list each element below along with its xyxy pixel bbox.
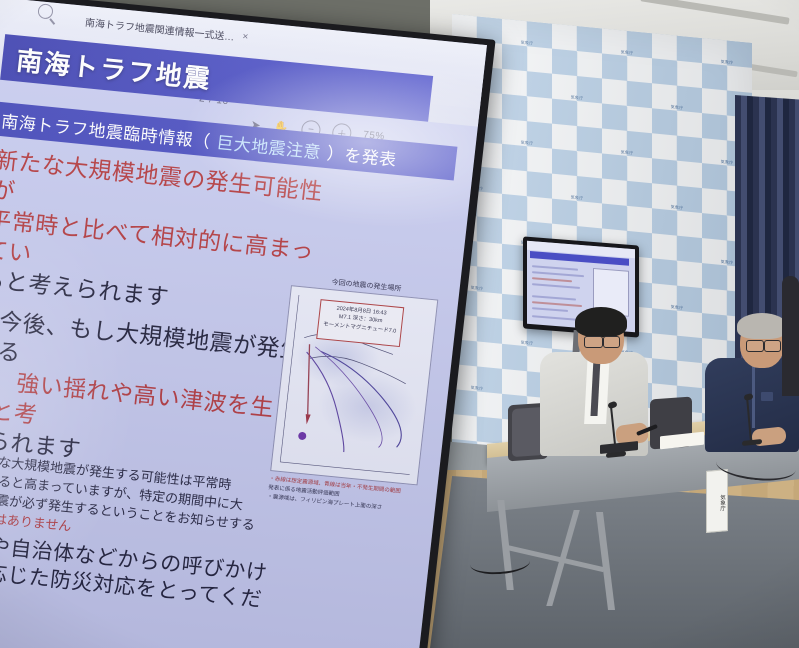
official-left-glasses — [584, 336, 603, 348]
background-person — [782, 276, 799, 396]
official-right-pocket — [761, 392, 773, 401]
figure-info-box: 2024年8月8日 16:43 M7.1 深さ：30km モーメントマグニチュー… — [316, 299, 404, 347]
jma-logo-icon: 気象庁 — [564, 195, 590, 212]
jma-logo-icon: 気象庁 — [514, 140, 540, 157]
official-right-glasses — [764, 340, 781, 352]
jma-logo-icon: 気象庁 — [614, 50, 640, 67]
earthquake-map-figure: 今回の地震の発生場所 — [266, 273, 441, 521]
official-left-hair — [575, 307, 627, 337]
screen-surface: 南海トラフ地震関連情報一式送… × ↑ ↓ 2 / 16 ➤ — [0, 0, 487, 648]
projection-screen: 南海トラフ地震関連情報一式送… × ↑ ↓ 2 / 16 ➤ — [0, 0, 496, 648]
jma-logo-icon: 気象庁 — [464, 285, 490, 302]
name-placard: 気象庁 — [706, 469, 728, 533]
monitor-text-line — [532, 277, 572, 282]
jma-logo-icon: 気象庁 — [464, 385, 490, 402]
jma-logo-icon: 気象庁 — [714, 59, 740, 76]
jma-logo-icon: 気象庁 — [664, 304, 690, 321]
figure-plot-area: 2024年8月8日 16:43 M7.1 深さ：30km モーメントマグニチュー… — [270, 285, 438, 485]
monitor-text-line — [532, 301, 582, 307]
search-icon[interactable] — [37, 3, 54, 19]
slide-paragraph-1: 新たな大規模地震の発生可能性が 平常時と比べて相対的に高まってい ると考えられま… — [0, 146, 325, 327]
monitor-text-line — [532, 307, 568, 312]
monitor-text-line — [532, 265, 578, 271]
slide-body: 新たな大規模地震の発生可能性が 平常時と比べて相対的に高まってい ると考えられま… — [0, 92, 476, 648]
jma-logo-icon: 気象庁 — [664, 204, 690, 221]
monitor-text-line — [532, 283, 580, 289]
official-right-glasses — [746, 340, 764, 352]
jma-logo-icon: 気象庁 — [514, 40, 540, 57]
jma-logo-icon: 気象庁 — [564, 95, 590, 112]
official-right-hair — [737, 313, 787, 339]
monitor-text-line — [532, 295, 576, 300]
jma-logo-icon: 気象庁 — [664, 104, 690, 121]
jma-logo-icon: 気象庁 — [614, 150, 640, 167]
screenshot-root: 気象庁気象庁気象庁気象庁気象庁気象庁気象庁気象庁気象庁気象庁気象庁気象庁気象庁気… — [0, 0, 799, 648]
official-left-glasses — [603, 336, 620, 348]
monitor-text-line — [532, 271, 584, 277]
jma-logo-icon: 気象庁 — [514, 340, 540, 357]
close-icon[interactable]: × — [242, 31, 249, 43]
